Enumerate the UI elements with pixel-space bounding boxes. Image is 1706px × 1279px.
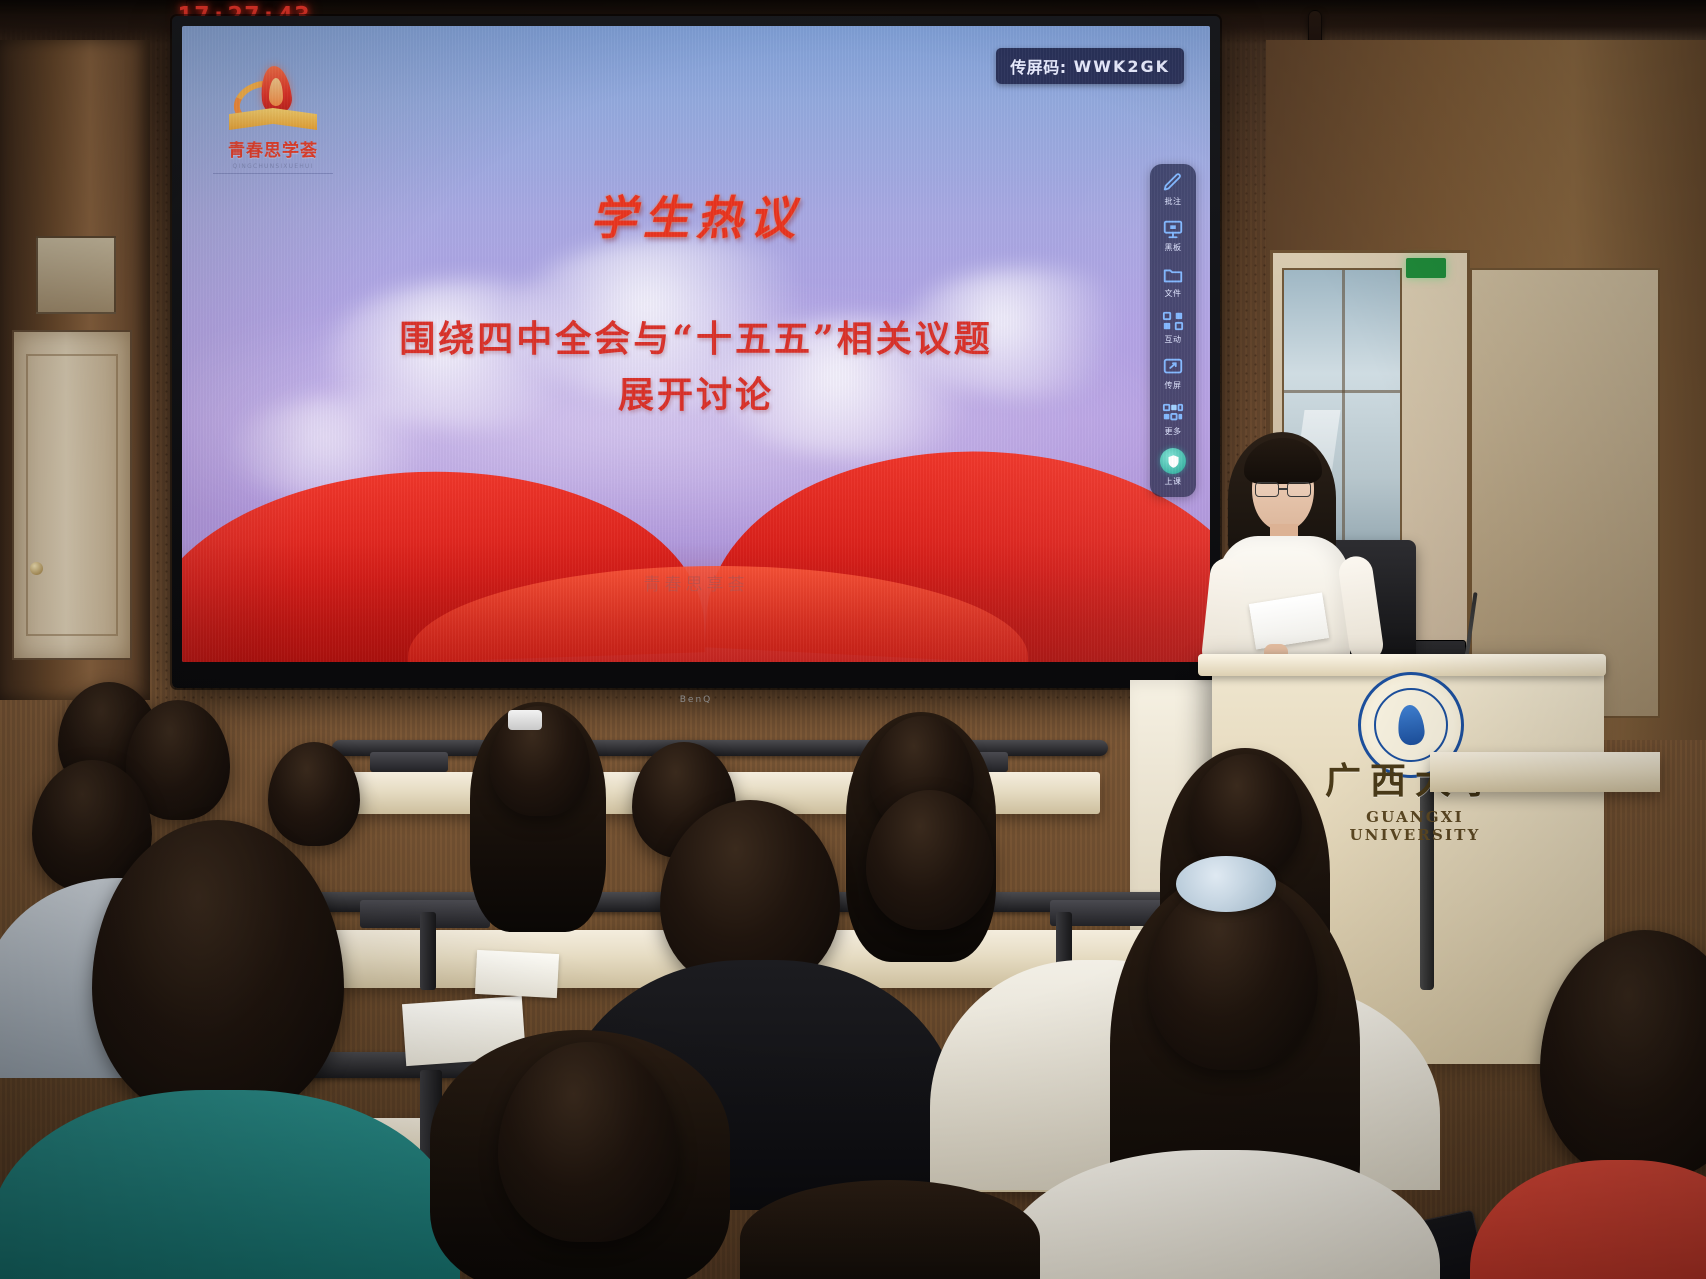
presenter-glasses <box>1254 482 1312 498</box>
toolbar-label-interaction: 互动 <box>1165 334 1182 345</box>
desk-leg-middle-l <box>420 912 436 990</box>
interaction-icon <box>1162 310 1184 332</box>
university-name-en: GUANGXI UNIVERSITY <box>1300 808 1530 844</box>
desk-pad-far-1 <box>370 752 448 772</box>
glasses-lens-left <box>1255 482 1279 497</box>
slide-title: 学生热议 <box>182 182 1210 248</box>
more-icon <box>1162 402 1184 424</box>
toolbar-item-interaction[interactable]: 互动 <box>1151 310 1195 345</box>
left-door-window <box>36 236 116 314</box>
presenter <box>1200 430 1380 680</box>
exit-sign-icon <box>1406 258 1446 278</box>
right-wall-panel <box>1470 268 1660 718</box>
lecture-hall-photo: 17:27:43 <box>0 0 1706 1279</box>
interactive-flat-panel[interactable]: 青春思学荟 QINGCHUNSIXUEHUI 传屏码: WWK2GK 学生热议 … <box>172 16 1220 688</box>
display-brand-strip: BenQ <box>172 688 1220 712</box>
logo-divider <box>213 173 333 174</box>
screen-surface[interactable]: 青春思学荟 QINGCHUNSIXUEHUI 传屏码: WWK2GK 学生热议 … <box>182 26 1210 662</box>
toolbar-item-more[interactable]: 更多 <box>1151 402 1195 437</box>
desk-row-far-right <box>1430 752 1660 792</box>
hair-scrunchie <box>1176 856 1276 912</box>
toolbar-item-blackboard[interactable]: 黑板 <box>1151 218 1195 253</box>
blackboard-icon <box>1162 218 1184 240</box>
toolbar-item-start-class[interactable]: 上课 <box>1151 448 1195 487</box>
toolbar-label-annotate: 批注 <box>1165 196 1182 207</box>
toolbar-item-screencast[interactable]: 传屏 <box>1151 356 1195 391</box>
cast-code-badge: 传屏码: WWK2GK <box>996 48 1184 84</box>
cast-code-label: 传屏码: <box>1010 54 1066 78</box>
toolbar-item-annotate[interactable]: 批注 <box>1151 172 1195 207</box>
slide-logo: 青春思学荟 QINGCHUNSIXUEHUI <box>208 64 338 176</box>
left-door[interactable] <box>12 330 132 660</box>
toolbar-label-more: 更多 <box>1165 426 1182 437</box>
toolbar-label-files: 文件 <box>1165 288 1182 299</box>
folder-icon <box>1162 264 1184 286</box>
pen-icon <box>1162 172 1184 194</box>
glasses-lens-right <box>1287 482 1311 497</box>
toolbar-label-start-class: 上课 <box>1165 476 1182 487</box>
slide-subtitle: 围绕四中全会与“十五五”相关议题 展开讨论 <box>182 312 1210 424</box>
start-class-icon <box>1160 448 1186 474</box>
slide-subtitle-line-1: 围绕四中全会与“十五五”相关议题 <box>182 312 1210 368</box>
seal-flame-icon <box>1396 704 1425 746</box>
cast-code-value: WWK2GK <box>1074 57 1170 76</box>
flame-book-icon <box>227 64 319 132</box>
slide-logo-pinyin: QINGCHUNSIXUEHUI <box>233 163 314 170</box>
toolbar-label-screencast: 传屏 <box>1165 380 1182 391</box>
slide-logo-text: 青春思学荟 <box>228 136 318 161</box>
display-brand: BenQ <box>680 695 713 705</box>
seal-inner-ring <box>1374 688 1448 762</box>
notebook-on-desk-2 <box>475 950 559 998</box>
toolbar-item-files[interactable]: 文件 <box>1151 264 1195 299</box>
toolbar-label-blackboard: 黑板 <box>1165 242 1182 253</box>
slide-subtitle-line-2: 展开讨论 <box>182 368 1210 424</box>
hair-clip <box>508 710 542 730</box>
screencast-icon <box>1162 356 1184 378</box>
ribbon-shading <box>182 542 1210 662</box>
slide-footer: 青春思享荟 <box>182 570 1210 595</box>
screen-side-toolbar[interactable]: 批注 黑板 文件 <box>1150 164 1196 497</box>
glasses-bridge <box>1279 488 1288 490</box>
shield-check-icon <box>1166 454 1181 469</box>
door-handle-icon[interactable] <box>30 562 43 575</box>
